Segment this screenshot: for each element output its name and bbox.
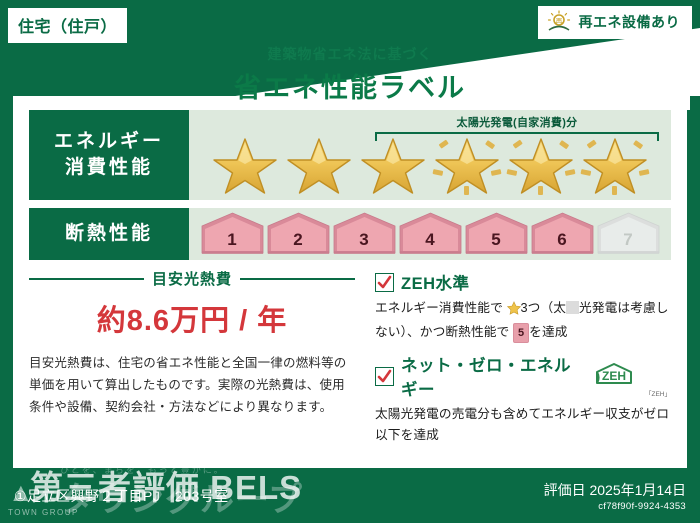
- net-zero-heading: ネット・ゼロ・エネルギー ZEH 「ZEH」: [375, 352, 671, 400]
- cost-heading-label: 目安光熱費: [152, 268, 232, 289]
- insulation-level-6: 6: [531, 212, 594, 256]
- insulation-level-number: 7: [597, 230, 660, 250]
- energy-label-root: 住宅（住戸） 再 再エネ設備あり 建築物省エネ法に基づく 省エネ性能ラベル エネ: [0, 0, 700, 523]
- renewable-badge-label: 再エネ設備あり: [579, 12, 681, 32]
- sun-icon: 再: [546, 10, 572, 34]
- redacted-block: [566, 301, 579, 314]
- footer-eval-id: cf78f90f-9924-4353: [544, 501, 686, 512]
- zeh-logo-caption: 「ZEH」: [645, 388, 671, 400]
- zeh-insulation-badge: 5: [513, 323, 529, 343]
- insulation-level-number: 1: [201, 230, 264, 250]
- star-3: [357, 128, 429, 196]
- zeh-standard-body: エネルギー消費性能で 3つ（太光発電は考慮しない）、かつ断熱性能で 5を達成: [375, 298, 671, 343]
- utility-cost-value: 約8.6万円 / 年: [29, 297, 355, 339]
- label-footer: ①足立区興野２丁目PJ 203号室 評価日 2025年1月14日 cf78f90…: [0, 468, 700, 523]
- renewable-energy-badge: 再 再エネ設備あり: [538, 6, 693, 39]
- energy-label-line1: エネルギー: [54, 129, 164, 155]
- insulation-scale: 1 2 3 4 5 6 7: [201, 212, 660, 256]
- insulation-level-4: 4: [399, 212, 462, 256]
- house-type-tag: 住宅（住戸）: [8, 8, 127, 43]
- zeh-logo-icon: ZEH: [593, 362, 637, 391]
- inline-star-icon: [507, 301, 521, 322]
- insulation-performance-label: 断熱性能: [29, 208, 189, 260]
- net-zero-energy-block: ネット・ゼロ・エネルギー ZEH 「ZEH」 太陽光発電の売電分も含めてエネルギ…: [375, 352, 671, 446]
- star-6: [579, 128, 651, 196]
- star-1: [209, 128, 281, 196]
- star-5: [505, 128, 577, 196]
- check-icon: [377, 275, 392, 290]
- insulation-level-5: 5: [465, 212, 528, 256]
- star-rating: [209, 114, 651, 196]
- zeh-standard-block: ZEH水準 エネルギー消費性能で 3つ（太光発電は考慮しない）、かつ断熱性能で …: [375, 270, 671, 343]
- zeh-body-part4: を達成: [529, 325, 567, 339]
- insulation-level-1: 1: [201, 212, 264, 256]
- zeh-column: ZEH水準 エネルギー消費性能で 3つ（太光発電は考慮しない）、かつ断熱性能で …: [365, 268, 671, 455]
- watermark-town-logo-text: TOWN GROUP: [8, 508, 79, 517]
- star-2: [283, 128, 355, 196]
- insulation-level-number: 6: [531, 230, 594, 250]
- zeh-standard-title: ZEH水準: [401, 270, 470, 294]
- footer-eval-info: 評価日 2025年1月14日 cf78f90f-9924-4353: [544, 480, 686, 512]
- insulation-level-number: 2: [267, 230, 330, 250]
- label-panel: エネルギー 消費性能 太陽光発電(自家消費)分: [29, 110, 671, 455]
- insulation-level-7: 7: [597, 212, 660, 256]
- watermark-town-logo-mark: ▲: [8, 477, 79, 508]
- insulation-level-number: 3: [333, 230, 396, 250]
- energy-performance-label: エネルギー 消費性能: [29, 110, 189, 200]
- title-subtitle: 建築物省エネ法に基づく: [0, 44, 700, 64]
- check-icon: [377, 369, 392, 384]
- insulation-level-3: 3: [333, 212, 396, 256]
- title-main: 省エネ性能ラベル: [0, 66, 700, 105]
- svg-text:ZEH: ZEH: [602, 369, 626, 383]
- label-title-block: 建築物省エネ法に基づく 省エネ性能ラベル: [0, 44, 700, 105]
- zeh-body-part2: 3つ（太: [521, 301, 567, 315]
- star-4: [431, 128, 503, 196]
- cost-rule-right: [240, 278, 355, 280]
- insulation-scale-area: 1 2 3 4 5 6 7: [189, 208, 671, 260]
- energy-label-line2: 消費性能: [65, 155, 153, 181]
- zeh-standard-checkbox[interactable]: [375, 273, 394, 292]
- watermark-town-logo: ▲ TOWN GROUP: [8, 477, 79, 517]
- insulation-level-number: 5: [465, 230, 528, 250]
- utility-cost-note: 目安光熱費は、住宅の省エネ性能と全国一律の燃料等の単価を用いて算出したものです。…: [29, 353, 355, 419]
- insulation-level-number: 4: [399, 230, 462, 250]
- footer-eval-date: 評価日 2025年1月14日: [544, 480, 686, 500]
- zeh-standard-heading: ZEH水準: [375, 270, 671, 294]
- insulation-level-2: 2: [267, 212, 330, 256]
- energy-stars-area: 太陽光発電(自家消費)分: [189, 110, 671, 200]
- zeh-body-part1: エネルギー消費性能で: [375, 301, 503, 315]
- net-zero-body: 太陽光発電の売電分も含めてエネルギー収支がゼロ以下を達成: [375, 404, 671, 446]
- energy-performance-row: エネルギー 消費性能 太陽光発電(自家消費)分: [29, 110, 671, 200]
- label-lower-section: 目安光熱費 約8.6万円 / 年 目安光熱費は、住宅の省エネ性能と全国一律の燃料…: [29, 268, 671, 455]
- utility-cost-heading: 目安光熱費: [29, 268, 355, 289]
- cost-rule-left: [29, 278, 144, 280]
- utility-cost-column: 目安光熱費 約8.6万円 / 年 目安光熱費は、住宅の省エネ性能と全国一律の燃料…: [29, 268, 365, 455]
- svg-text:再: 再: [555, 18, 562, 26]
- insulation-performance-row: 断熱性能 1 2 3 4 5 6 7: [29, 208, 671, 260]
- net-zero-checkbox[interactable]: [375, 367, 394, 386]
- net-zero-title: ネット・ゼロ・エネルギー: [401, 352, 582, 400]
